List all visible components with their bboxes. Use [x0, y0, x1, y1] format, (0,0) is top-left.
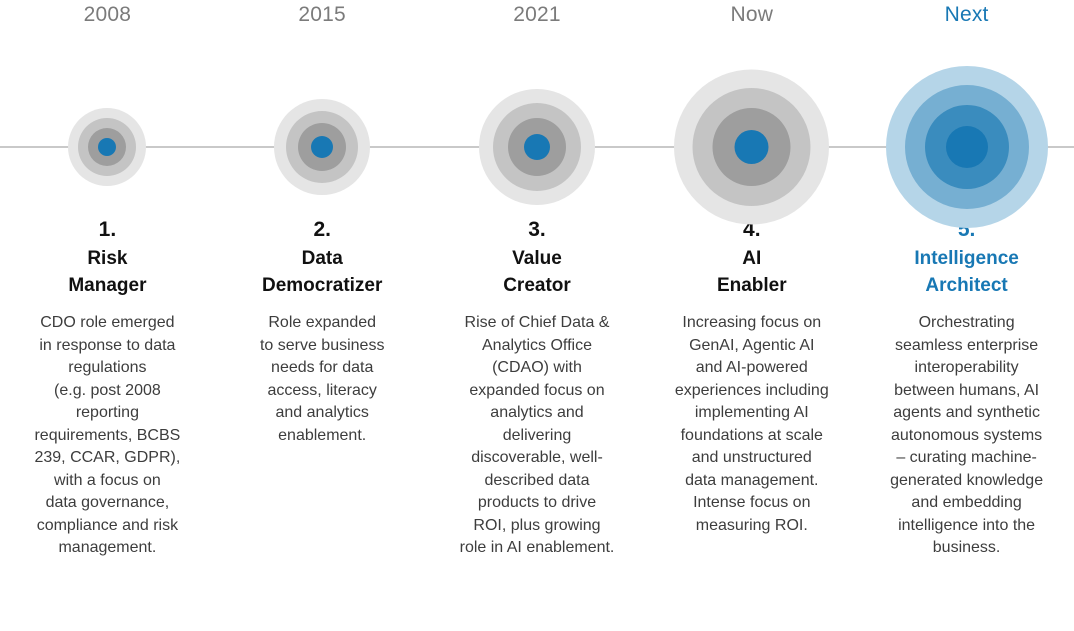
stage-body-3: Rise of Chief Data & Analytics Office (C…: [452, 312, 623, 560]
concentric-circle-node-5: [886, 66, 1048, 228]
stage-title-2: Data Democratizer: [262, 245, 382, 299]
era-label-5: Next: [945, 0, 989, 30]
era-label-1: 2008: [84, 0, 132, 30]
stage-number-3: 3.: [528, 216, 546, 244]
concentric-circle-node-4: [674, 70, 829, 225]
node-area-4: [644, 30, 859, 210]
stage-title-3: Value Creator: [503, 245, 571, 299]
concentric-circle-node-3: [479, 89, 595, 205]
stage-title-1: Risk Manager: [68, 245, 146, 299]
ring-core-2: [311, 136, 333, 158]
concentric-circle-node-1: [68, 108, 146, 186]
stage-body-5: Orchestrating seamless enterprise intero…: [882, 312, 1051, 560]
era-label-2: 2015: [298, 0, 346, 30]
era-label-3: 2021: [513, 0, 561, 30]
stage-number-1: 1.: [99, 216, 117, 244]
timeline-stage-2: 2015 2. Data Democratizer Role expanded …: [215, 0, 430, 447]
node-area-3: [430, 30, 645, 210]
stage-body-1: CDO role emerged in response to data reg…: [26, 312, 188, 560]
node-area-1: [0, 30, 215, 210]
era-label-4: Now: [730, 0, 773, 30]
ring-core-1: [98, 138, 116, 156]
concentric-circle-node-2: [274, 99, 370, 195]
stage-number-2: 2.: [313, 216, 331, 244]
stage-title-4: AI Enabler: [717, 245, 787, 299]
stage-body-2: Role expanded to serve business needs fo…: [252, 312, 393, 447]
node-area-2: [215, 30, 430, 210]
timeline-stage-1: 2008 1. Risk Manager CDO role emerged in…: [0, 0, 215, 560]
ring-core-4: [735, 130, 769, 164]
ring-core-3: [524, 134, 550, 160]
stage-body-4: Increasing focus on GenAI, Agentic AI an…: [667, 312, 837, 537]
timeline-stages-container: 2008 1. Risk Manager CDO role emerged in…: [0, 0, 1074, 631]
timeline-stage-4: Now 4. AI Enabler Increasing focus on Ge…: [644, 0, 859, 537]
timeline-stage-5: Next 5. Intelligence Architect Orchestra…: [859, 0, 1074, 560]
node-area-5: [859, 30, 1074, 210]
stage-title-5: Intelligence Architect: [914, 245, 1019, 299]
ring-core-5: [946, 126, 988, 168]
timeline-stage-3: 2021 3. Value Creator Rise of Chief Data…: [430, 0, 645, 560]
